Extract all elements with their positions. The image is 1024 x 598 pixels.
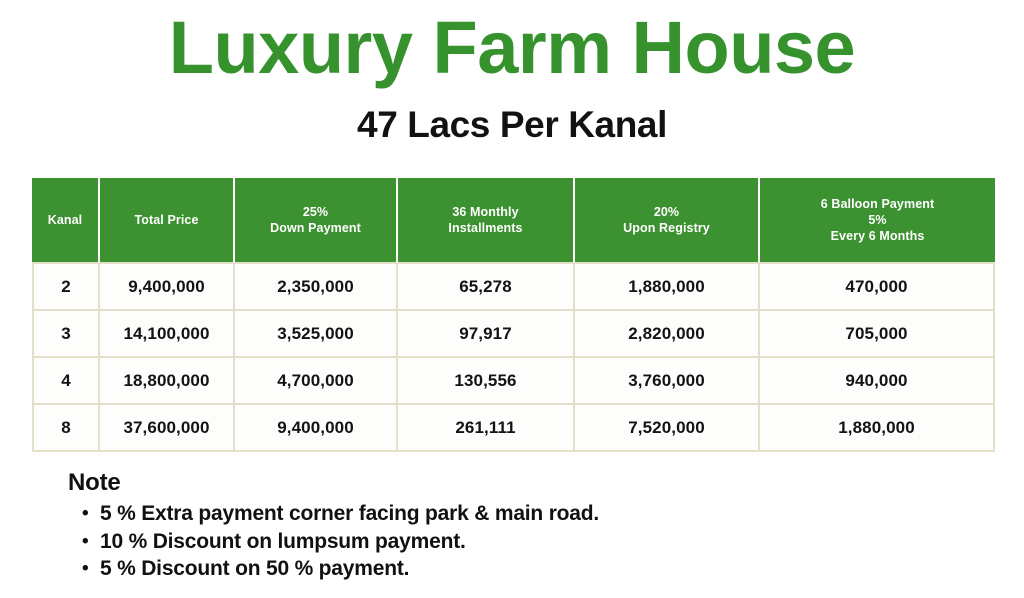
cell-total-price: 37,600,000 [100, 405, 235, 452]
cell-monthly-installments: 130,556 [398, 358, 575, 405]
cell-balloon-payment: 940,000 [760, 358, 995, 405]
cell-kanal: 8 [32, 405, 100, 452]
cell-upon-registry: 1,880,000 [575, 262, 760, 311]
note-heading: Note [68, 468, 599, 498]
column-header-kanal: Kanal [32, 178, 100, 262]
cell-down-payment: 2,350,000 [235, 262, 398, 311]
list-item: 5 % Extra payment corner facing park & m… [100, 500, 599, 528]
column-header-balloon-payment: 6 Balloon Payment 5% Every 6 Months [760, 178, 995, 262]
column-header-down-payment: 25% Down Payment [235, 178, 398, 262]
cell-kanal: 2 [32, 262, 100, 311]
cell-monthly-installments: 261,111 [398, 405, 575, 452]
column-header-line: Kanal [32, 212, 98, 228]
pricing-table: Kanal Total Price 25% Down Payment 36 Mo… [32, 178, 995, 452]
column-header-line: Installments [398, 220, 573, 236]
cell-down-payment: 3,525,000 [235, 311, 398, 358]
table-header: Kanal Total Price 25% Down Payment 36 Mo… [32, 178, 995, 262]
cell-upon-registry: 3,760,000 [575, 358, 760, 405]
list-item: 5 % Discount on 50 % payment. [100, 555, 599, 583]
column-header-line: Total Price [100, 212, 233, 228]
column-header-monthly-installments: 36 Monthly Installments [398, 178, 575, 262]
cell-total-price: 14,100,000 [100, 311, 235, 358]
table-header-row: Kanal Total Price 25% Down Payment 36 Mo… [32, 178, 995, 262]
column-header-line: Down Payment [235, 220, 396, 236]
table-row: 8 37,600,000 9,400,000 261,111 7,520,000… [32, 405, 995, 452]
table-row: 4 18,800,000 4,700,000 130,556 3,760,000… [32, 358, 995, 405]
column-header-total-price: Total Price [100, 178, 235, 262]
table-row: 2 9,400,000 2,350,000 65,278 1,880,000 4… [32, 262, 995, 311]
column-header-line: Every 6 Months [760, 228, 995, 244]
list-item: 10 % Discount on lumpsum payment. [100, 528, 599, 556]
cell-balloon-payment: 1,880,000 [760, 405, 995, 452]
cell-monthly-installments: 97,917 [398, 311, 575, 358]
cell-total-price: 9,400,000 [100, 262, 235, 311]
table-row: 3 14,100,000 3,525,000 97,917 2,820,000 … [32, 311, 995, 358]
column-header-line: 36 Monthly [398, 204, 573, 220]
page-title: Luxury Farm House [0, 2, 1024, 94]
cell-upon-registry: 7,520,000 [575, 405, 760, 452]
note-section: Note 5 % Extra payment corner facing par… [68, 468, 599, 583]
cell-kanal: 4 [32, 358, 100, 405]
cell-upon-registry: 2,820,000 [575, 311, 760, 358]
column-header-line: 6 Balloon Payment [760, 196, 995, 212]
cell-kanal: 3 [32, 311, 100, 358]
cell-balloon-payment: 470,000 [760, 262, 995, 311]
column-header-line: 5% [760, 212, 995, 228]
column-header-line: Upon Registry [575, 220, 758, 236]
column-header-line: 20% [575, 204, 758, 220]
note-list: 5 % Extra payment corner facing park & m… [68, 500, 599, 583]
column-header-line: 25% [235, 204, 396, 220]
table-body: 2 9,400,000 2,350,000 65,278 1,880,000 4… [32, 262, 995, 452]
page-subtitle: 47 Lacs Per Kanal [0, 101, 1024, 149]
cell-total-price: 18,800,000 [100, 358, 235, 405]
cell-down-payment: 4,700,000 [235, 358, 398, 405]
cell-down-payment: 9,400,000 [235, 405, 398, 452]
cell-monthly-installments: 65,278 [398, 262, 575, 311]
column-header-upon-registry: 20% Upon Registry [575, 178, 760, 262]
cell-balloon-payment: 705,000 [760, 311, 995, 358]
